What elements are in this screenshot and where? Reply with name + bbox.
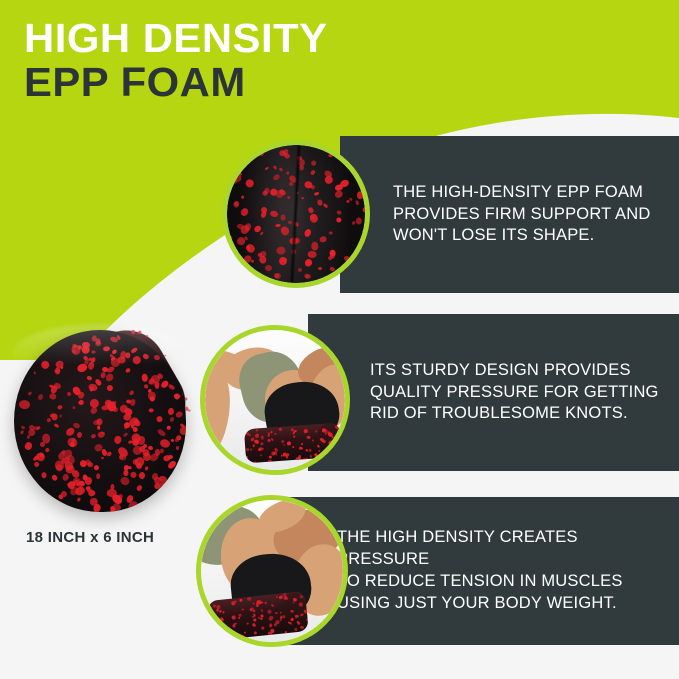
foam-speck	[238, 616, 241, 619]
foam-speck	[362, 145, 365, 148]
foam-speck	[125, 353, 130, 359]
foam-speck	[281, 214, 287, 220]
foam-speck	[233, 178, 237, 183]
foam-speck	[336, 210, 342, 215]
foam-speck	[248, 434, 250, 436]
foam-speck	[167, 408, 174, 416]
foam-speck	[299, 613, 302, 616]
foam-speck	[144, 384, 148, 389]
product-image	[8, 300, 208, 515]
foam-speck	[355, 251, 360, 256]
foam-speck	[260, 609, 263, 613]
foam-speck	[278, 256, 287, 266]
foam-speck	[341, 456, 343, 459]
foam-speck	[24, 441, 33, 451]
foam-speck	[92, 351, 96, 354]
foam-speck	[102, 346, 110, 352]
foam-speck	[343, 256, 349, 262]
foam-speck	[148, 409, 153, 413]
foam-speck	[300, 595, 303, 598]
foam-speck	[19, 400, 30, 409]
feature-2-image	[200, 325, 350, 475]
foam-speck	[105, 372, 115, 382]
foam-speck	[136, 484, 143, 491]
foam-speck	[246, 623, 248, 626]
foam-speck	[222, 611, 224, 613]
foam-speck	[323, 175, 334, 186]
foam-speck	[228, 235, 233, 241]
foam-speck	[250, 449, 252, 451]
foam-speck	[273, 173, 281, 181]
foam-speck	[303, 273, 311, 280]
foam-speck	[253, 618, 257, 622]
feature-panel-1: THE HIGH-DENSITY EPP FOAM PROVIDES FIRM …	[340, 136, 679, 293]
foam-speck	[241, 154, 246, 160]
foam-speck	[298, 447, 302, 451]
foam-speck	[143, 352, 150, 359]
foam-speck	[308, 630, 309, 632]
foam-speck	[57, 404, 63, 410]
foam-speck	[223, 634, 227, 638]
foam-speck	[262, 627, 265, 629]
foam-speck	[308, 251, 317, 258]
foam-speck	[82, 474, 88, 481]
foam-speck	[275, 432, 277, 434]
foam-speck	[269, 623, 272, 627]
foam-speck	[336, 217, 342, 223]
foam-speck	[128, 390, 134, 396]
foam-speck	[27, 391, 32, 396]
foam-speck	[214, 629, 218, 633]
foam-speck	[364, 214, 365, 223]
foam-speck	[267, 609, 272, 614]
foam-speck	[239, 207, 249, 218]
foam-speck	[269, 456, 272, 459]
foam-speck	[101, 457, 104, 459]
foam-speck	[154, 483, 161, 489]
foam-closeup-photo	[227, 145, 365, 283]
feature-3-image	[196, 495, 348, 647]
foam-speck	[298, 455, 301, 459]
foam-speck	[279, 611, 281, 613]
foam-speck	[322, 202, 328, 208]
foam-speck	[294, 429, 297, 432]
foam-speck	[286, 456, 288, 459]
foam-speck	[90, 406, 99, 415]
foam-speck	[87, 462, 93, 467]
foam-speck	[227, 222, 228, 227]
foam-speck	[230, 630, 234, 634]
foam-speck	[329, 145, 334, 150]
foam-texture-graphic	[227, 145, 365, 283]
foam-speck	[279, 427, 282, 431]
foam-speck	[276, 223, 281, 226]
foam-speck	[87, 488, 92, 492]
foam-speck	[250, 260, 254, 263]
foam-speck	[155, 415, 164, 424]
foam-speck	[41, 472, 46, 478]
foam-speck	[290, 248, 296, 254]
foam-speck	[276, 596, 278, 598]
foam-speck	[294, 458, 298, 461]
foam-speck	[363, 175, 365, 184]
foam-speck	[340, 440, 342, 443]
foam-speck	[252, 602, 254, 604]
feature-2-text: ITS STURDY DESIGN PROVIDES QUALITY PRESS…	[308, 360, 665, 425]
foam-speck	[50, 413, 57, 421]
foam-speck	[137, 330, 142, 335]
foam-speck	[334, 189, 344, 199]
foam-speck	[188, 409, 191, 411]
foam-speck	[156, 428, 166, 437]
foam-speck	[97, 425, 100, 429]
foam-speck	[306, 435, 310, 438]
foam-speck	[345, 200, 349, 203]
foam-speck	[259, 454, 262, 456]
mini-foam-roller	[207, 591, 309, 641]
foam-speck	[95, 473, 100, 479]
foam-speck	[320, 457, 324, 461]
foam-speck	[231, 615, 236, 620]
foam-speck	[59, 414, 62, 418]
mini-foam-roller	[244, 423, 342, 464]
foam-speck	[360, 280, 365, 283]
foam-speck	[279, 224, 290, 236]
foam-speck	[272, 165, 277, 170]
foam-speck	[167, 460, 177, 470]
foam-speck	[168, 455, 173, 459]
foam-speck	[48, 393, 56, 400]
foam-speck	[239, 613, 242, 616]
foam-speck	[118, 357, 126, 364]
foam-speck	[132, 355, 142, 365]
foam-speck	[311, 241, 319, 250]
page-title-line-1: HIGH DENSITY	[24, 18, 328, 58]
foam-speck	[184, 397, 188, 401]
foam-speck	[72, 406, 76, 410]
foam-speck	[145, 335, 148, 338]
foam-speck	[315, 430, 317, 432]
foam-speck	[33, 371, 36, 375]
foam-speck	[163, 355, 165, 356]
foam-speck	[153, 355, 160, 361]
foam-speck	[233, 624, 236, 627]
feature-1-image	[222, 140, 370, 288]
foam-speck	[169, 416, 175, 422]
foam-speck	[250, 273, 261, 283]
foam-speck	[227, 282, 232, 283]
foam-speck	[255, 434, 259, 438]
foam-speck	[76, 363, 88, 374]
foam-speck	[254, 609, 256, 611]
foam-speck	[269, 210, 278, 218]
foam-speck	[214, 640, 216, 641]
foam-speck	[317, 200, 323, 206]
foam-speck	[329, 153, 333, 157]
foam-speck	[227, 189, 229, 197]
foam-speck	[124, 368, 130, 374]
foam-speck	[274, 612, 277, 614]
foam-speck	[66, 392, 71, 397]
foam-speck	[329, 232, 333, 235]
foam-speck	[53, 422, 59, 427]
foam-speck	[327, 451, 331, 454]
foam-speck	[279, 167, 284, 172]
foam-speck	[296, 191, 299, 195]
foam-speck	[330, 266, 336, 271]
foam-speck	[306, 457, 308, 460]
foam-speck	[286, 196, 291, 201]
foam-speck	[130, 347, 138, 354]
foam-speck	[176, 446, 180, 450]
foam-speck	[132, 426, 138, 432]
foam-speck	[264, 166, 268, 170]
foam-speck	[244, 178, 255, 188]
foam-speck	[139, 471, 146, 479]
foam-speck	[319, 236, 327, 244]
foam-speck	[238, 145, 246, 150]
foam-speck	[145, 467, 148, 471]
foam-speck	[318, 267, 322, 271]
foam-speck	[245, 242, 256, 253]
foam-speck	[362, 194, 365, 201]
foam-speck	[77, 432, 83, 439]
foam-speck	[234, 164, 242, 171]
foam-speck	[106, 384, 113, 391]
foam-speck	[117, 494, 124, 502]
foam-speck	[36, 426, 41, 431]
foam-speck	[26, 434, 31, 439]
foam-speck	[321, 439, 323, 441]
foam-speck	[271, 438, 274, 442]
foam-speck	[285, 631, 287, 633]
foam-speck	[298, 267, 303, 272]
foam-speck	[51, 474, 58, 482]
foam-speck	[288, 221, 292, 224]
foam-speck	[253, 631, 257, 635]
foam-speck	[260, 618, 263, 621]
title-block: HIGH DENSITY EPP FOAM	[24, 18, 322, 104]
foam-speck	[312, 439, 315, 442]
foam-speck	[294, 628, 297, 631]
foam-speck	[275, 619, 280, 623]
foam-speck	[355, 200, 359, 205]
foam-speck	[314, 191, 320, 196]
foam-speck	[301, 443, 303, 446]
rolling-glutes-photo	[201, 500, 343, 642]
page-title-line-2: EPP FOAM	[24, 62, 328, 104]
foam-speck	[46, 418, 51, 423]
foam-speck	[174, 410, 183, 418]
foam-speck	[295, 614, 299, 617]
foam-speck	[358, 255, 364, 261]
foam-speck	[265, 602, 267, 604]
foam-speck	[141, 374, 147, 383]
foam-speck	[261, 448, 264, 451]
infographic-canvas: HIGH DENSITY EPP FOAM THE HIGH-DENSITY E…	[0, 0, 679, 679]
product-dimensions-caption: 18 INCH x 6 INCH	[26, 529, 154, 546]
foam-speck	[246, 456, 249, 460]
foam-speck	[252, 444, 255, 448]
foam-speck	[268, 615, 274, 621]
foam-speck	[362, 207, 365, 213]
foam-speck	[310, 160, 317, 167]
foam-speck	[304, 429, 308, 433]
foam-speck	[41, 434, 50, 444]
foam-speck	[241, 608, 244, 610]
foam-speck	[210, 624, 212, 626]
foam-speck	[308, 448, 312, 452]
foam-speck	[37, 393, 44, 401]
foam-speck	[304, 228, 312, 237]
foam-speck	[101, 431, 105, 434]
foam-speck	[267, 435, 270, 437]
foam-speck	[355, 217, 362, 225]
foam-speck	[274, 273, 281, 280]
foam-speck	[220, 617, 225, 622]
foam-speck	[167, 425, 172, 430]
foam-speck	[91, 434, 97, 440]
rolling-hip-photo	[205, 330, 345, 470]
foam-speck	[301, 197, 304, 199]
foam-speck	[246, 448, 249, 451]
foam-speck	[308, 458, 312, 461]
foam-speck	[39, 360, 51, 371]
foam-speck	[87, 375, 93, 380]
foam-speck	[33, 461, 40, 468]
foam-speck	[283, 444, 285, 446]
foam-speck	[271, 604, 274, 607]
foam-speck	[93, 504, 102, 512]
foam-speck	[255, 603, 258, 607]
foam-speck	[259, 442, 264, 447]
foam-speck	[244, 631, 247, 634]
foam-speck	[298, 164, 305, 171]
foam-speck	[122, 432, 128, 438]
foam-speck	[114, 435, 122, 443]
foam-speck	[119, 475, 130, 486]
foam-speck	[246, 597, 251, 602]
foam-speck	[314, 455, 318, 459]
foam-speck	[239, 598, 243, 602]
foam-speck	[268, 460, 272, 464]
foam-speck	[260, 205, 268, 213]
foam-speck	[292, 446, 295, 449]
foam-speck	[131, 330, 135, 334]
foam-speck	[276, 246, 286, 255]
foam-speck	[259, 231, 263, 235]
foam-speck	[45, 447, 51, 453]
foam-speck	[259, 150, 264, 156]
foam-speck	[59, 365, 63, 369]
roller-end-face	[14, 330, 186, 512]
foam-speck	[20, 430, 24, 435]
feature-1-text: THE HIGH-DENSITY EPP FOAM PROVIDES FIRM …	[340, 182, 656, 247]
foam-speck	[256, 429, 259, 432]
foam-speck	[101, 367, 107, 373]
foam-speck	[93, 464, 100, 471]
foam-speck	[122, 469, 128, 475]
person-scene-3	[201, 500, 343, 642]
foam-speck	[77, 497, 81, 502]
foam-speck	[293, 436, 295, 438]
foam-speck	[285, 171, 289, 175]
foam-speck	[293, 221, 299, 227]
foam-speck	[251, 622, 256, 627]
person-scene-2	[205, 330, 345, 470]
foam-speck	[310, 169, 316, 175]
foam-speck	[267, 438, 271, 442]
foam-speck	[127, 465, 132, 469]
foam-speck	[253, 461, 256, 463]
foam-speck	[303, 257, 313, 267]
foam-speck	[130, 471, 138, 479]
feature-panel-2: ITS STURDY DESIGN PROVIDES QUALITY PRESS…	[308, 314, 679, 471]
foam-speck	[280, 439, 285, 444]
foam-speck	[306, 617, 309, 622]
foam-speck	[71, 437, 75, 442]
foam-speck	[241, 195, 245, 199]
foam-speck	[170, 438, 174, 442]
foam-speck	[274, 145, 279, 146]
foam-speck	[240, 634, 245, 638]
foam-speck	[265, 265, 272, 271]
